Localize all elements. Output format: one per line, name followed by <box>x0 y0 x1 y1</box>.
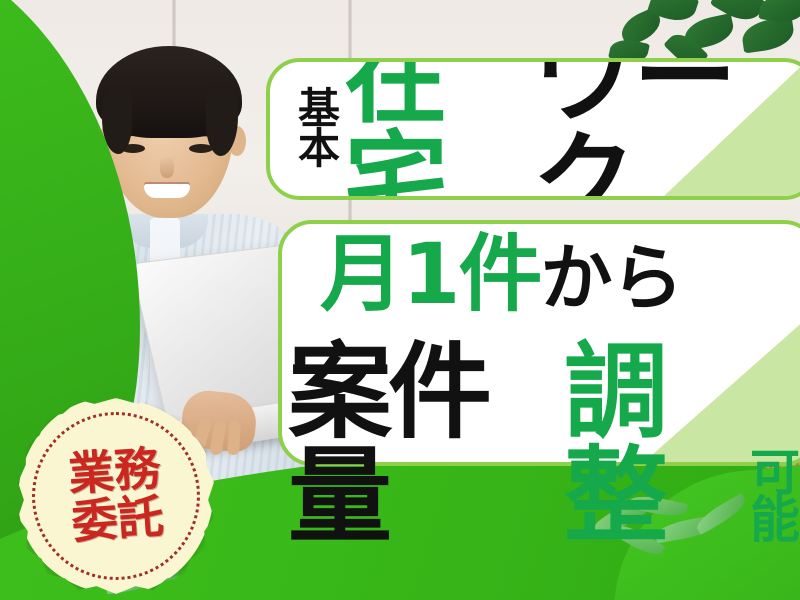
headline-rest: ワーク <box>532 58 800 200</box>
contract-type-badge: 業務 委託 <box>18 398 214 594</box>
headline-row-secondary-line-one: 月1件 から <box>320 232 682 316</box>
badge-label-line-2: 委託 <box>70 493 165 547</box>
headline-row-secondary-line-two: 案件量 調整 可 能 <box>288 340 800 548</box>
badge-label: 業務 委託 <box>11 391 220 600</box>
headline-prefix-char-1: 基 <box>298 89 340 129</box>
subline-two-suffix-char-1: 可 <box>750 450 800 497</box>
headline-row-primary: 基 本 在宅 ワーク <box>298 58 800 200</box>
subline-one-highlight: 月1件 <box>320 232 540 316</box>
hair <box>96 46 242 138</box>
headline-prefix-char-2: 本 <box>298 129 340 169</box>
subline-two-highlight: 調整 <box>564 340 748 548</box>
headline-banner-primary: 基 本 在宅 ワーク <box>266 58 800 200</box>
subline-two-suffix-char-2: 能 <box>750 497 800 544</box>
headline-highlight: 在宅 <box>344 58 532 200</box>
finger <box>227 421 241 456</box>
nose <box>160 156 174 178</box>
advertisement-canvas: 基 本 在宅 ワーク 月1件 から 案件量 調整 可 能 業務 委託 <box>0 0 800 600</box>
subline-two-lead: 案件量 <box>288 340 564 548</box>
subline-one-rest: から <box>540 242 682 314</box>
headline-prefix-stack: 基 本 <box>298 89 340 170</box>
smiling-mouth <box>144 184 190 198</box>
subline-two-suffix-stack: 可 能 <box>750 450 800 548</box>
